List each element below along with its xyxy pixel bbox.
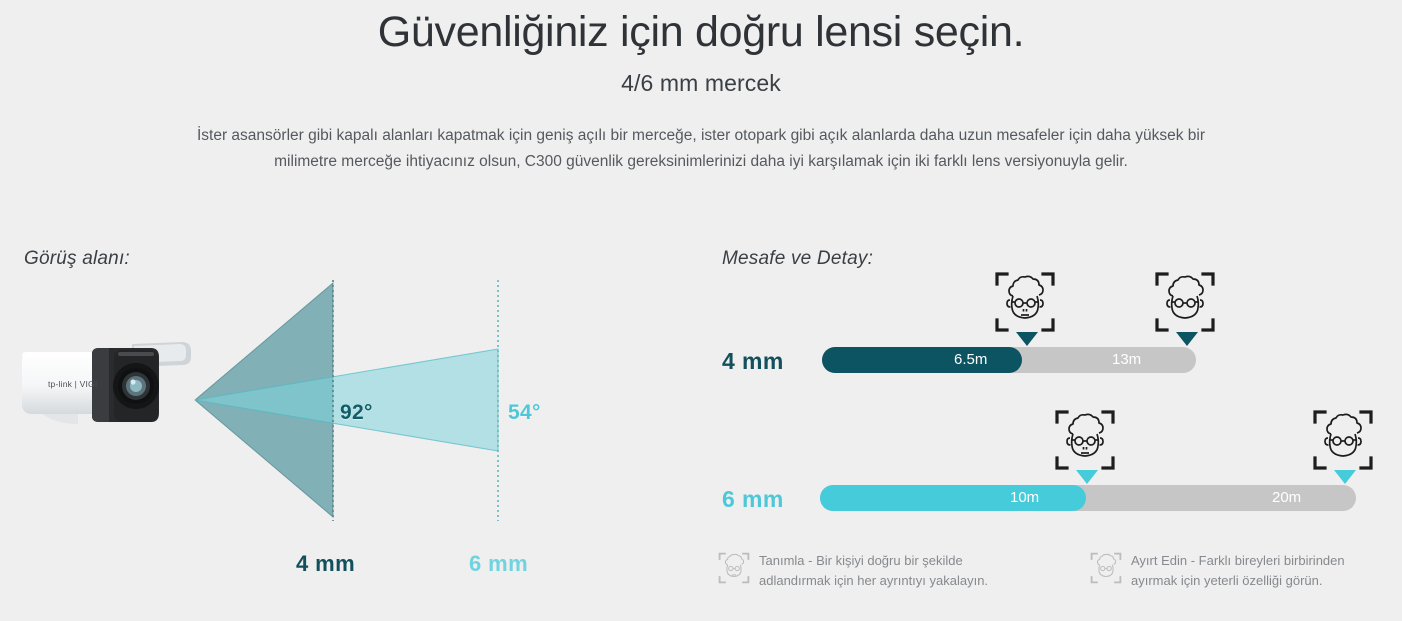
- row-lens-label-4mm: 4 mm: [722, 348, 784, 375]
- distance-section-label: Mesafe ve Detay:: [722, 248, 873, 270]
- lens-label-6mm: 6 mm: [469, 551, 528, 577]
- distance-value-recognize-6mm: 20m: [1272, 485, 1301, 511]
- distance-fill-6mm: [820, 485, 1086, 511]
- page-title: Güvenliğiniz için doğru lensi seçin.: [0, 8, 1402, 56]
- lens-comparison-page: Güvenliğiniz için doğru lensi seçin. 4/6…: [0, 0, 1402, 621]
- camera-illustration: tp-link | VIGI: [22, 330, 197, 440]
- distance-detail-panel: Mesafe ve Detay: 4 mm: [700, 235, 1402, 621]
- distance-value-identify-4mm: 6.5m: [954, 347, 987, 373]
- caption-recognize-text: Ayırt Edin - Farklı bireyleri birbirinde…: [1131, 551, 1390, 590]
- face-marker-identify-6mm: [1055, 410, 1115, 470]
- caret-identify-6mm: [1076, 470, 1098, 484]
- caption-recognize: Ayırt Edin - Farklı bireyleri birbirinde…: [1090, 551, 1390, 590]
- caption-identify-text: Tanımla - Bir kişiyi doğru bir şekilde a…: [759, 551, 1008, 590]
- distance-value-identify-6mm: 10m: [1010, 485, 1039, 511]
- face-identify-icon: [718, 552, 750, 584]
- caret-recognize-4mm: [1176, 332, 1198, 346]
- fov-diagram: tp-link | VIGI 92° 54° 4 mm 6 mm: [0, 235, 700, 621]
- caret-identify-4mm: [1016, 332, 1038, 346]
- distance-fill-4mm: [822, 347, 1022, 373]
- camera-brand-label: tp-link | VIGI: [48, 379, 97, 389]
- distance-row-6mm: 6 mm: [700, 468, 1402, 538]
- intro-paragraph: İster asansörler gibi kapalı alanları ka…: [171, 123, 1231, 174]
- row-lens-label-6mm: 6 mm: [722, 486, 784, 513]
- face-marker-identify-4mm: [995, 272, 1055, 332]
- face-marker-recognize-6mm: [1313, 410, 1373, 470]
- face-marker-recognize-4mm: [1155, 272, 1215, 332]
- caption-identify: Tanımla - Bir kişiyi doğru bir şekilde a…: [718, 551, 1008, 590]
- page-subtitle: 4/6 mm mercek: [0, 70, 1402, 97]
- caret-recognize-6mm: [1334, 470, 1356, 484]
- bullet-camera-icon: tp-link | VIGI: [22, 330, 197, 440]
- angle-label-54: 54°: [508, 401, 541, 425]
- face-recognize-icon: [1090, 552, 1122, 584]
- lens-label-4mm: 4 mm: [296, 551, 355, 577]
- field-of-view-panel: Görüş alanı:: [0, 235, 700, 621]
- distance-row-4mm: 4 mm: [700, 330, 1402, 400]
- distance-value-recognize-4mm: 13m: [1112, 347, 1141, 373]
- page-header: Güvenliğiniz için doğru lensi seçin. 4/6…: [0, 0, 1402, 174]
- angle-label-92: 92°: [340, 401, 373, 425]
